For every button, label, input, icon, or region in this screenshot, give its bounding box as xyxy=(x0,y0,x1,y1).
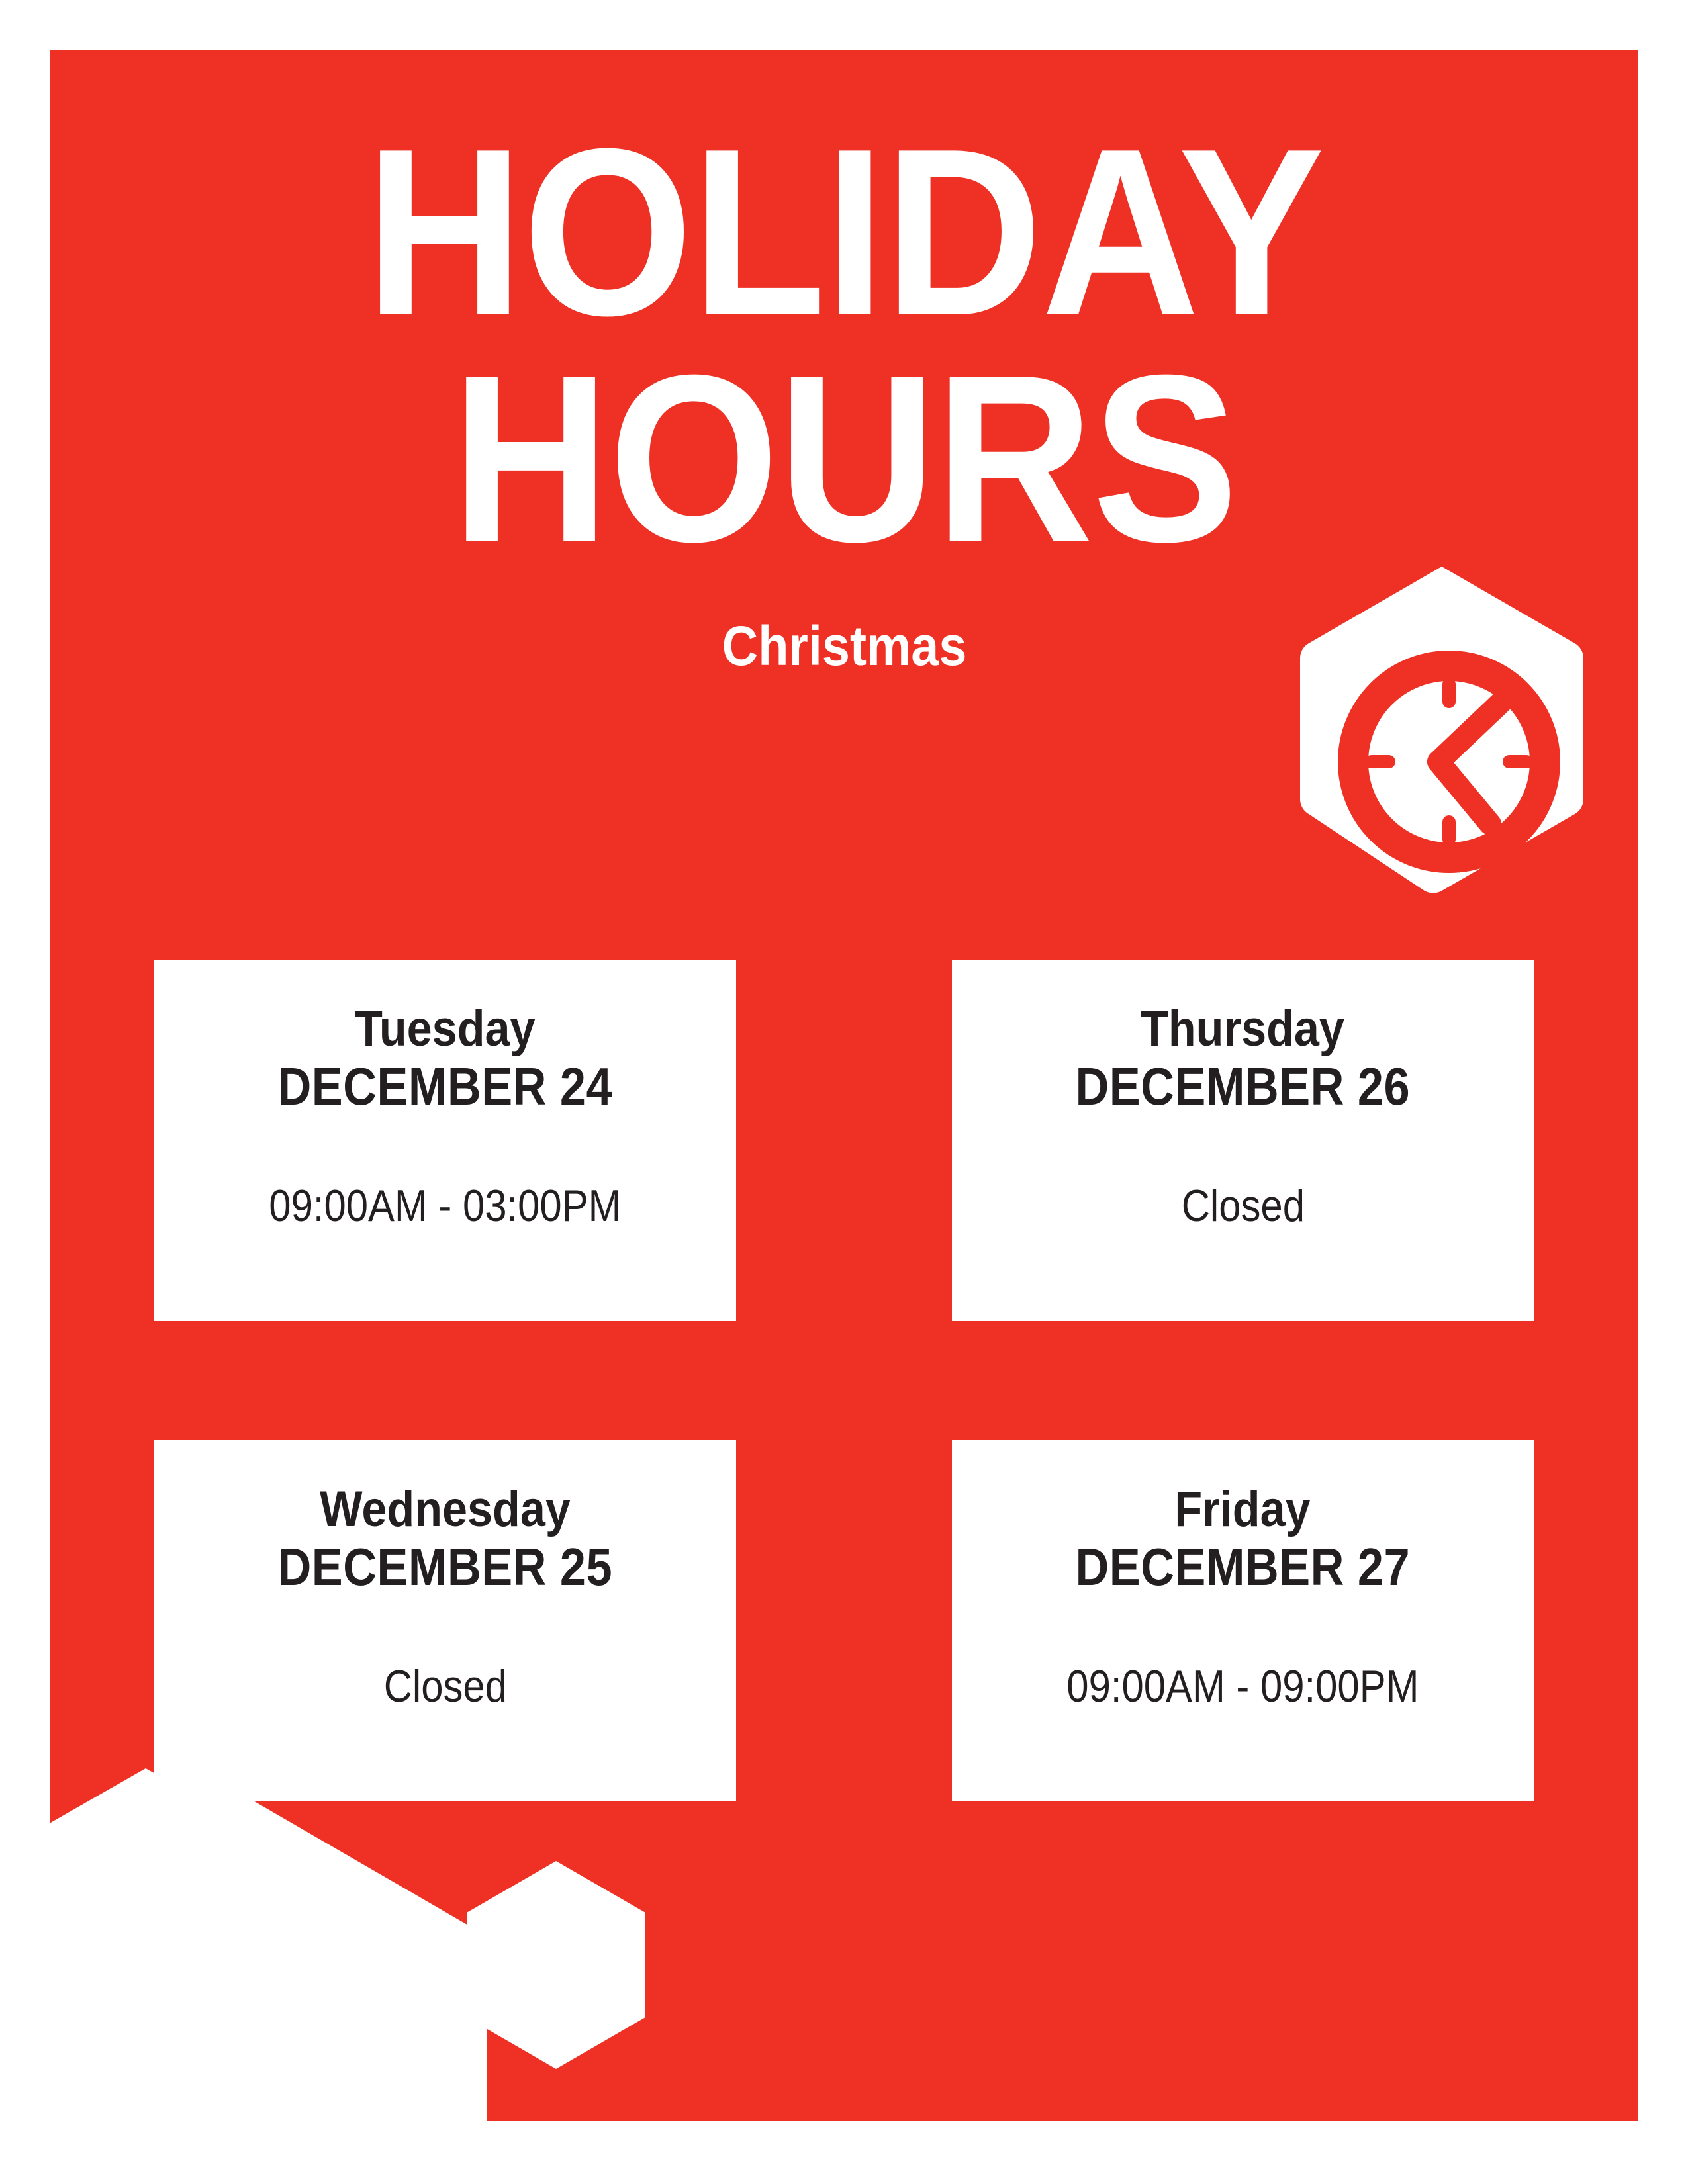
card-date-label: DECEMBER 24 xyxy=(278,1057,613,1116)
holiday-hours-poster: HOLIDAY HOURS Christmas Tuesday DECEMBER… xyxy=(0,0,1688,2184)
day-card: Tuesday DECEMBER 24 09:00AM - 03:00PM xyxy=(154,960,736,1321)
hours-card-grid: Tuesday DECEMBER 24 09:00AM - 03:00PM Th… xyxy=(154,960,1534,1801)
card-date-label: DECEMBER 26 xyxy=(1076,1057,1411,1116)
day-card: Friday DECEMBER 27 09:00AM - 09:00PM xyxy=(952,1440,1534,1801)
clock-tick-6 xyxy=(1442,815,1456,846)
day-card: Thursday DECEMBER 26 Closed xyxy=(952,960,1534,1321)
card-day-label: Tuesday xyxy=(355,1001,535,1057)
clock-tick-9 xyxy=(1365,755,1395,768)
card-hours-label: 09:00AM - 03:00PM xyxy=(269,1180,621,1232)
clock-tick-3 xyxy=(1503,755,1533,768)
card-date-label: DECEMBER 27 xyxy=(1076,1537,1411,1597)
card-day-label: Thursday xyxy=(1141,1001,1345,1057)
clock-icon xyxy=(1294,561,1589,896)
clock-tick-12 xyxy=(1442,678,1456,708)
card-day-label: Wednesday xyxy=(320,1481,571,1537)
card-hours-label: 09:00AM - 09:00PM xyxy=(1066,1661,1419,1712)
card-day-label: Friday xyxy=(1175,1481,1311,1537)
card-date-label: DECEMBER 25 xyxy=(278,1537,613,1597)
card-hours-label: Closed xyxy=(1181,1180,1304,1232)
card-hours-label: Closed xyxy=(383,1661,506,1712)
day-card: Wednesday DECEMBER 25 Closed xyxy=(154,1440,736,1801)
